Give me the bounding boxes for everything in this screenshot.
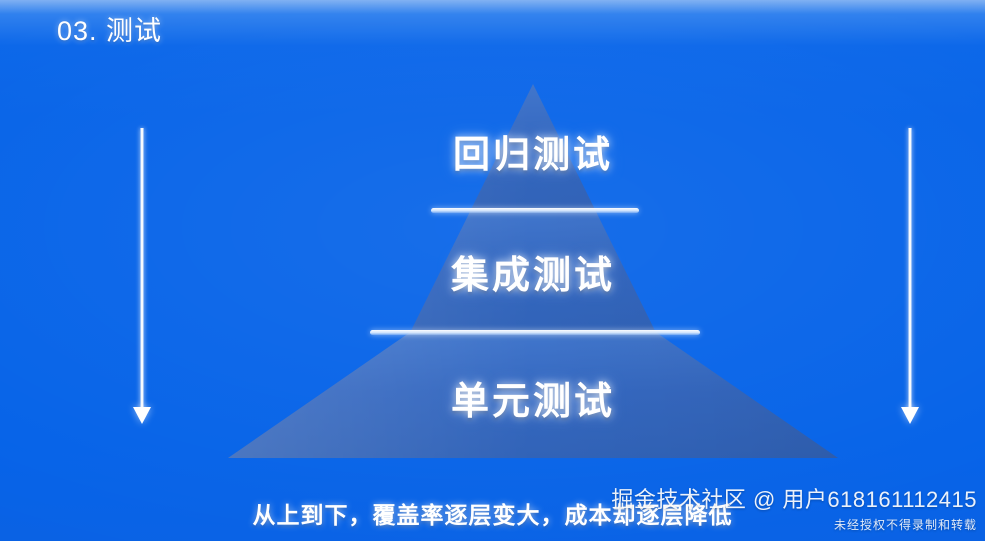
- arrow-head: [901, 407, 919, 424]
- arrow-shaft: [908, 128, 912, 410]
- arrow-head: [133, 407, 151, 424]
- watermark: 掘金技术社区 @ 用户618161112415 未经授权不得录制和转载: [611, 482, 977, 533]
- pyramid-tier-label-top: 回归测试: [228, 124, 838, 178]
- slide-canvas: 03. 测试 回归测试 集成测试 单元测试 从上到下，覆盖率逐层变大，成本却逐层…: [0, 0, 985, 541]
- tier-divider-top: [431, 208, 639, 213]
- page-title: 03. 测试: [57, 17, 162, 47]
- testing-pyramid-diagram: 回归测试 集成测试 单元测试: [228, 84, 838, 458]
- pyramid-tier-label-bottom: 单元测试: [228, 370, 838, 425]
- tier-divider-bottom: [370, 330, 700, 335]
- watermark-sub-text: 未经授权不得录制和转载: [611, 516, 977, 533]
- arrow-shaft: [140, 128, 144, 410]
- watermark-main-text: 掘金技术社区 @ 用户618161112415: [611, 482, 977, 514]
- pyramid-tier-label-middle: 集成测试: [228, 244, 838, 299]
- down-arrow-icon-left: [129, 128, 155, 428]
- down-arrow-icon-right: [897, 128, 923, 428]
